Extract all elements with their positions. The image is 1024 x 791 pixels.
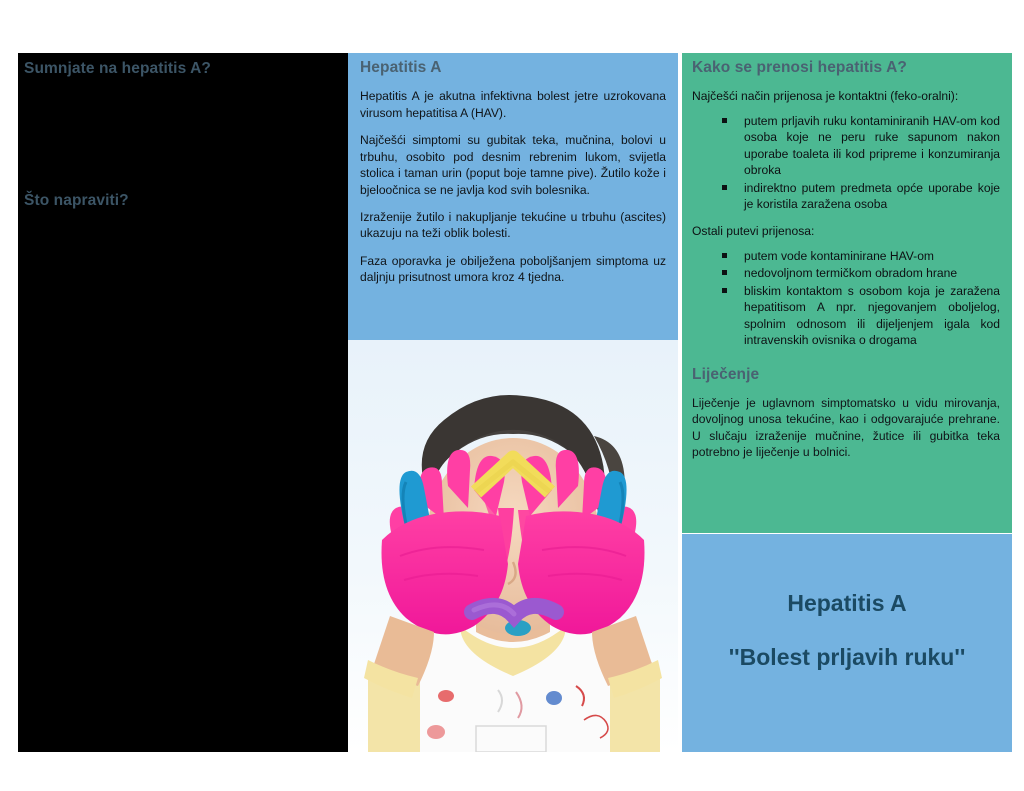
transmission-main-list: putem prljavih ruku kontaminiranih HAV-o… bbox=[692, 113, 1000, 213]
list-item-text: nedovoljnom termičkom obradom hrane bbox=[744, 266, 957, 280]
cover-title-line-1: Hepatitis A bbox=[696, 590, 998, 618]
list-item: indirektno putem predmeta opće uporabe k… bbox=[722, 180, 1000, 213]
panel-right-green: Kako se prenosi hepatitis A? Najčešći na… bbox=[682, 53, 1012, 533]
right-heading-transmission: Kako se prenosi hepatitis A? bbox=[692, 58, 1000, 77]
right-paragraph-treatment: Liječenje je uglavnom simptomatsko u vid… bbox=[692, 395, 1000, 461]
square-bullet-icon bbox=[722, 185, 727, 190]
right-lead-other: Ostali putevi prijenosa: bbox=[692, 223, 1000, 239]
child-with-painted-hands-photo bbox=[348, 340, 678, 752]
left-heading-suspect: Sumnjate na hepatitis A? bbox=[24, 59, 338, 78]
list-item: putem prljavih ruku kontaminiranih HAV-o… bbox=[722, 113, 1000, 179]
middle-paragraph-symptoms: Najčešći simptomi su gubitak teka, mučni… bbox=[360, 132, 666, 198]
list-item: nedovoljnom termičkom obradom hrane bbox=[722, 265, 1000, 281]
left-heading-whattodo: Što napraviti? bbox=[24, 191, 338, 210]
cover-title-line-2: ''Bolest prljavih ruku'' bbox=[696, 644, 998, 672]
right-heading-treatment: Liječenje bbox=[692, 365, 1000, 384]
left-spacer bbox=[24, 78, 338, 191]
list-item-text: indirektno putem predmeta opće uporabe k… bbox=[744, 181, 1000, 211]
list-item: bliskim kontaktom s osobom koja je zaraž… bbox=[722, 283, 1000, 349]
square-bullet-icon bbox=[722, 270, 727, 275]
list-item-text: putem prljavih ruku kontaminiranih HAV-o… bbox=[744, 114, 1000, 177]
panel-cover-title: Hepatitis A ''Bolest prljavih ruku'' bbox=[682, 534, 1012, 752]
middle-paragraph-recovery: Faza oporavka je obilježena poboljšanjem… bbox=[360, 253, 666, 286]
panel-middle-blue: Hepatitis A Hepatitis A je akutna infekt… bbox=[348, 53, 678, 340]
list-item-text: putem vode kontaminirane HAV-om bbox=[744, 249, 934, 263]
panel-left-black: Sumnjate na hepatitis A? Što napraviti? bbox=[18, 53, 348, 752]
photo-illustration bbox=[348, 340, 678, 752]
brochure-page: Sumnjate na hepatitis A? Što napraviti? … bbox=[0, 0, 1024, 791]
list-item: putem vode kontaminirane HAV-om bbox=[722, 248, 1000, 264]
right-lead-main: Najčešći način prijenosa je kontaktni (f… bbox=[692, 88, 1000, 104]
middle-paragraph-severe: Izraženije žutilo i nakupljanje tekućine… bbox=[360, 209, 666, 242]
transmission-other-list: putem vode kontaminirane HAV-om nedovolj… bbox=[692, 248, 1000, 349]
middle-heading-hepatitis-a: Hepatitis A bbox=[360, 58, 666, 77]
middle-paragraph-definition: Hepatitis A je akutna infektivna bolest … bbox=[360, 88, 666, 121]
square-bullet-icon bbox=[722, 118, 727, 123]
list-item-text: bliskim kontaktom s osobom koja je zaraž… bbox=[744, 284, 1000, 347]
square-bullet-icon bbox=[722, 288, 727, 293]
square-bullet-icon bbox=[722, 253, 727, 258]
